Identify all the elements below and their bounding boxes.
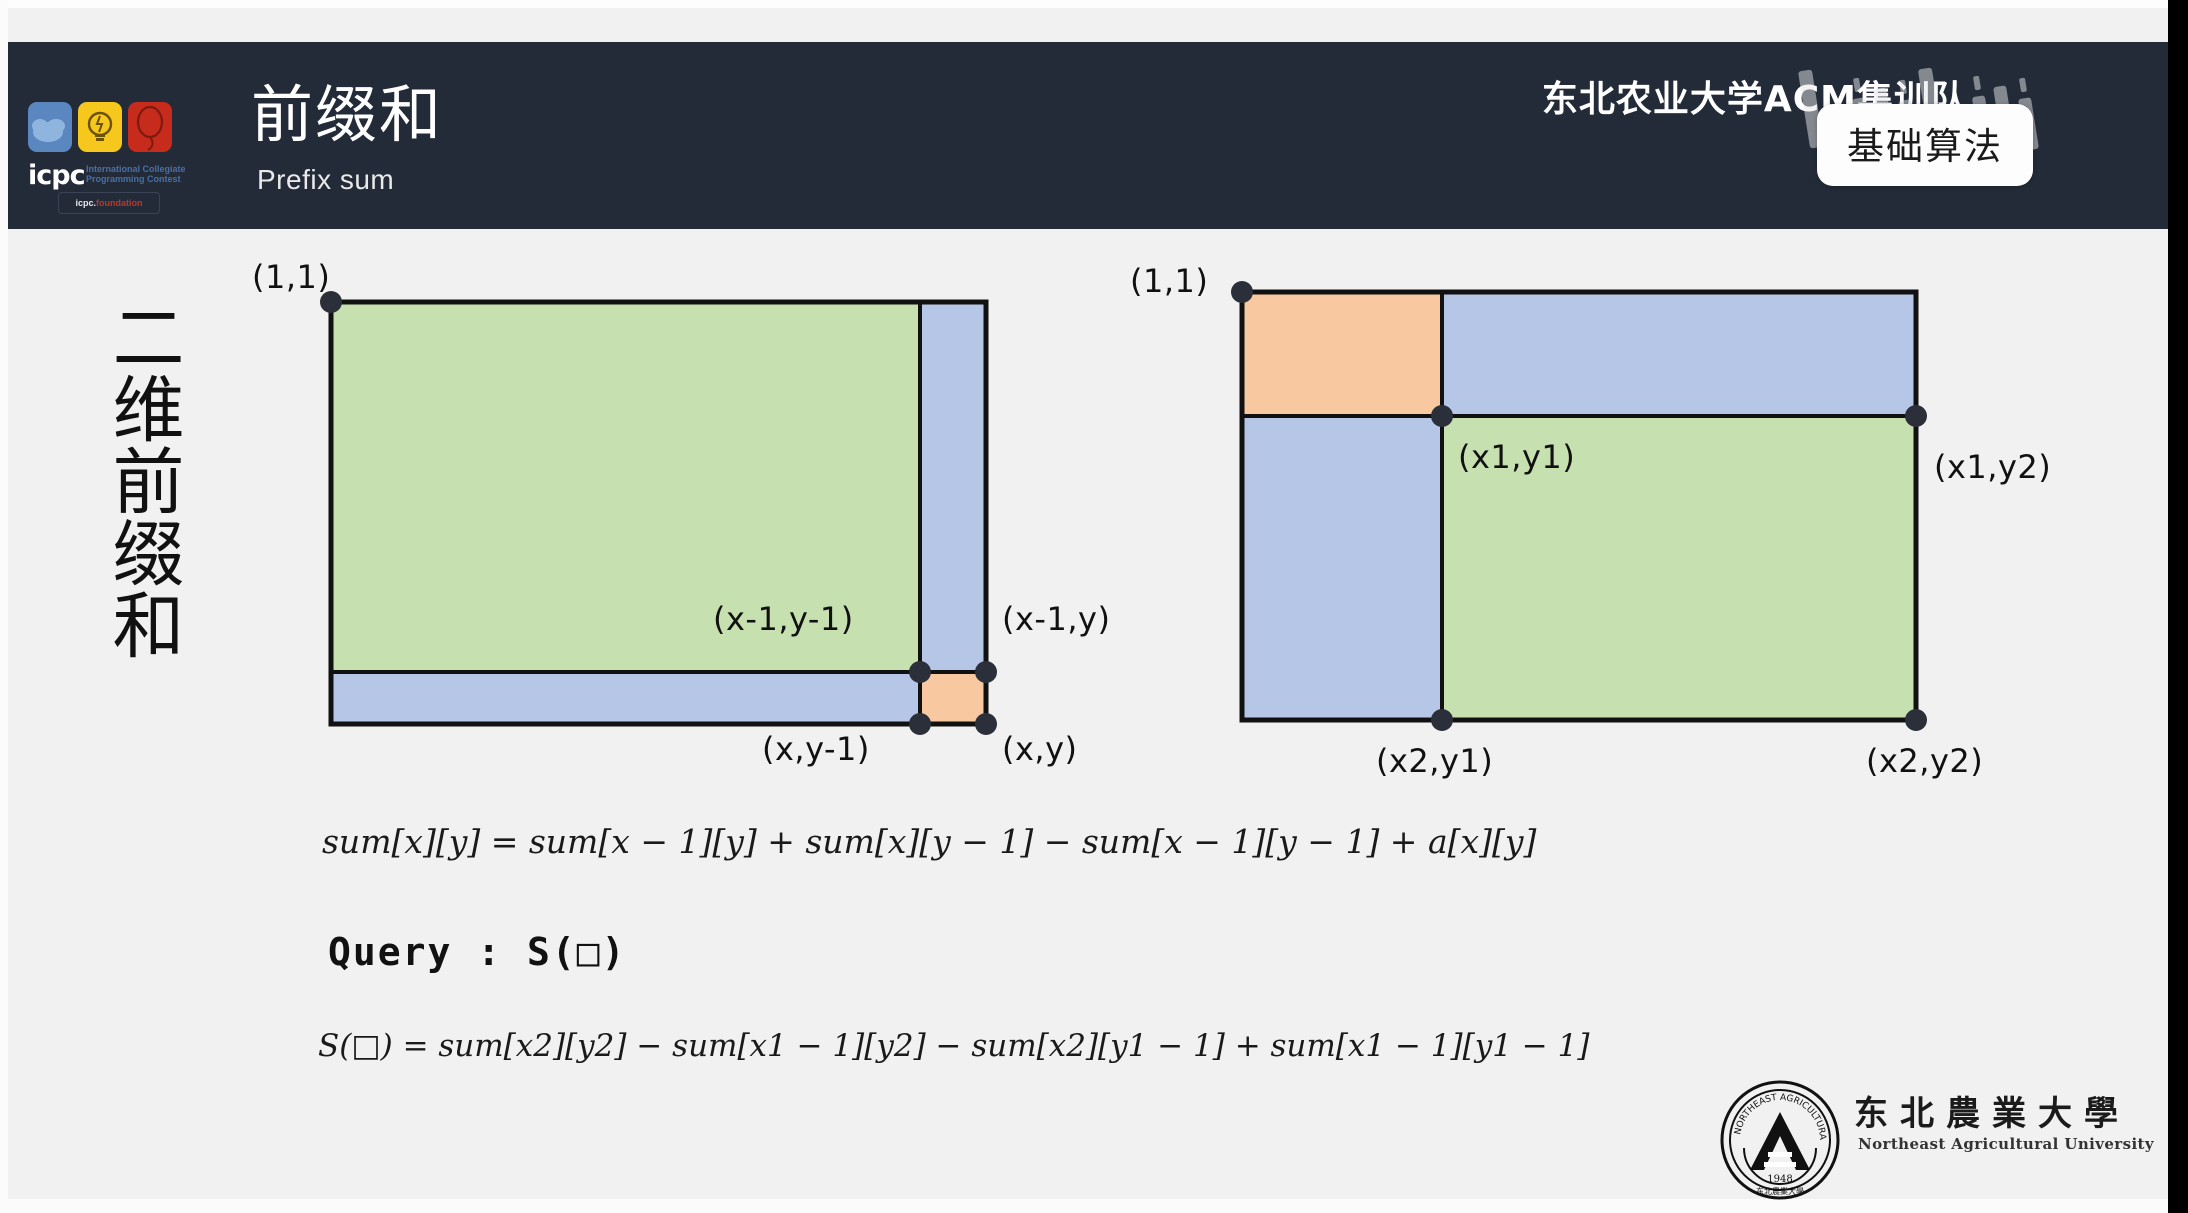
university-name-en: Northeast Agricultural University <box>1858 1135 2154 1153</box>
formula-query: S(□) = sum[x2][y2] − sum[x1 − 1][y2] − s… <box>318 1028 1589 1064</box>
region-orange-topleft <box>1242 292 1442 416</box>
dot-xm1-y <box>975 661 997 683</box>
region-orange-cell <box>920 672 986 724</box>
region-blue-left <box>1242 416 1442 720</box>
prefix-sum-recurrence-diagram <box>320 291 997 735</box>
range-query-diagram <box>1231 281 1927 731</box>
dot-x1-y2 <box>1905 405 1927 427</box>
label-right-x2y1: (x2,y1) <box>1376 742 1493 780</box>
dot-x2-y1 <box>1431 709 1453 731</box>
label-left-xm1ym1: (x-1,y-1) <box>713 600 854 638</box>
label-right-origin: (1,1) <box>1130 262 1208 300</box>
label-left-origin: (1,1) <box>252 258 330 296</box>
formula-recurrence: sum[x][y] = sum[x − 1][y] + sum[x][y − 1… <box>322 822 1536 861</box>
svg-text:东北農業大學: 东北農業大學 <box>1756 1186 1804 1196</box>
slide-canvas: icpc International Collegiate Programmin… <box>0 0 2188 1213</box>
university-name-cn: 东北農業大學 <box>1854 1086 2130 1135</box>
dot-x-ym1 <box>909 713 931 735</box>
region-blue-column <box>920 302 986 672</box>
university-logo: 1948 东北農業大學 NORTHEAST AGRICULTURAL UNIVE… <box>1718 1078 2178 1198</box>
right-black-strip <box>2168 0 2188 1213</box>
dot-x1-y1 <box>1431 405 1453 427</box>
region-blue-top <box>1442 292 1916 416</box>
query-label: Query : S(□) <box>328 930 627 974</box>
dot-xm1-ym1 <box>909 661 931 683</box>
dot-x-y <box>975 713 997 735</box>
dot-x2-y2 <box>1905 709 1927 731</box>
label-left-xy: (x,y) <box>1002 730 1078 768</box>
label-left-xym1: (x,y-1) <box>762 730 870 768</box>
label-left-xm1y: (x-1,y) <box>1002 600 1110 638</box>
label-right-x1y2: (x1,y2) <box>1934 448 2051 486</box>
label-right-x1y1: (x1,y1) <box>1458 438 1575 476</box>
dot-origin-right <box>1231 281 1253 303</box>
seal-year: 1948 <box>1767 1174 1792 1185</box>
region-blue-row <box>331 672 920 724</box>
label-right-x2y2: (x2,y2) <box>1866 742 1983 780</box>
university-seal-icon: 1948 东北農業大學 NORTHEAST AGRICULTURAL UNIVE… <box>1718 1078 1842 1202</box>
